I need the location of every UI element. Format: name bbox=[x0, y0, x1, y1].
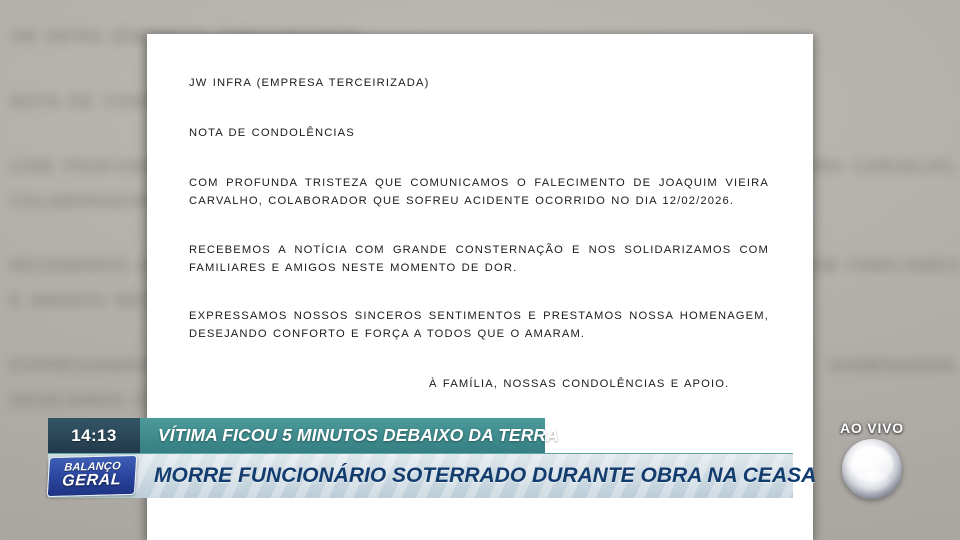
spacer bbox=[189, 211, 769, 241]
program-logo: BALANÇO GERAL bbox=[48, 454, 136, 498]
balanco-geral-logo-box: BALANÇO GERAL bbox=[47, 455, 138, 497]
lower-third-top-row: 14:13 VÍTIMA FICOU 5 MINUTOS DEBAIXO DA … bbox=[48, 418, 796, 453]
document-paragraph-3: EXPRESSAMOS NOSSOS SINCEROS SENTIMENTOS … bbox=[189, 307, 769, 343]
clock-badge: 14:13 bbox=[48, 418, 140, 453]
spacer bbox=[189, 343, 769, 375]
main-headline-text: MORRE FUNCIONÁRIO SOTERRADO DURANTE OBRA… bbox=[154, 464, 816, 488]
spacer bbox=[189, 277, 769, 307]
clock-time: 14:13 bbox=[71, 426, 116, 446]
main-headline-strip: MORRE FUNCIONÁRIO SOTERRADO DURANTE OBRA… bbox=[136, 454, 816, 498]
record-sphere-icon bbox=[842, 439, 902, 499]
live-indicator: AO VIVO bbox=[812, 420, 932, 520]
live-label: AO VIVO bbox=[840, 420, 904, 436]
spacer bbox=[189, 92, 769, 124]
logo-line-2: GERAL bbox=[62, 472, 122, 490]
sub-headline-strip: VÍTIMA FICOU 5 MINUTOS DEBAIXO DA TERRA bbox=[140, 418, 545, 453]
document-title: NOTA DE CONDOLÊNCIAS bbox=[189, 124, 769, 142]
lower-third-banner: 14:13 VÍTIMA FICOU 5 MINUTOS DEBAIXO DA … bbox=[48, 418, 796, 498]
document-company-line: JW INFRA (EMPRESA TERCEIRIZADA) bbox=[189, 74, 769, 92]
tv-broadcast-screenshot: JW INFRA (EMPRESA TERCEIRIZADA) NOTA DE … bbox=[0, 0, 960, 540]
lower-third-main-row: BALANÇO GERAL MORRE FUNCIONÁRIO SOTERRAD… bbox=[48, 453, 793, 498]
sub-headline-text: VÍTIMA FICOU 5 MINUTOS DEBAIXO DA TERRA bbox=[158, 425, 559, 446]
document-paragraph-1: COM PROFUNDA TRISTEZA QUE COMUNICAMOS O … bbox=[189, 174, 769, 210]
document-body: JW INFRA (EMPRESA TERCEIRIZADA) NOTA DE … bbox=[147, 34, 813, 393]
document-signoff: À FAMÍLIA, NOSSAS CONDOLÊNCIAS E APOIO. bbox=[189, 375, 769, 393]
document-paragraph-2: RECEBEMOS A NOTÍCIA COM GRANDE CONSTERNA… bbox=[189, 241, 769, 277]
spacer bbox=[189, 142, 769, 174]
